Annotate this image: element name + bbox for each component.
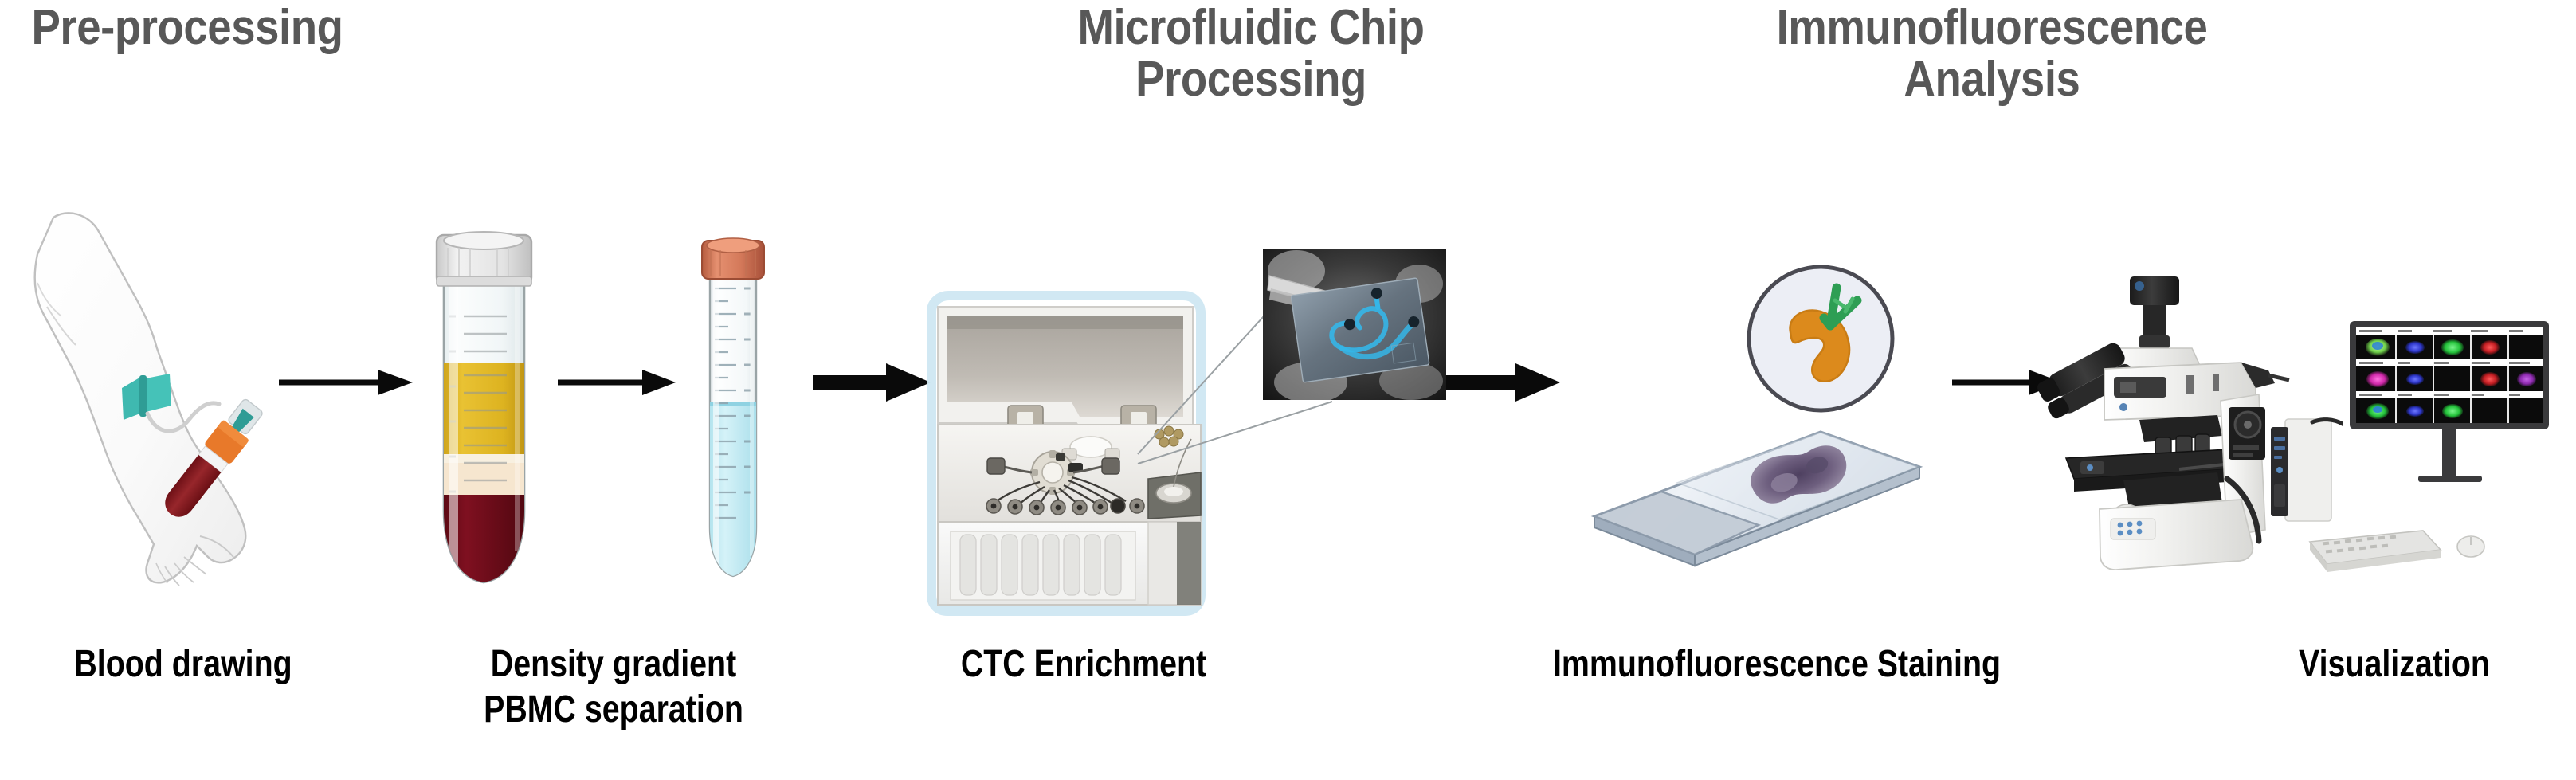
step-caption-ctc-enrichment: CTC Enrichment [914, 642, 1253, 688]
stage-heading-pre-processing: Pre-processing [22, 2, 352, 53]
antibody-binding-icon [1741, 259, 1900, 418]
stage-heading-immunofluorescence: Immunofluorescence Analysis [1739, 2, 2245, 105]
density-gradient-tube [414, 227, 554, 602]
arrow-gradient-to-ctc [558, 363, 677, 402]
step-caption-blood-drawing: Blood drawing [26, 642, 340, 688]
analysis-monitor [2339, 315, 2576, 498]
step-caption-density-gradient: Density gradient PBMC separation [430, 642, 796, 732]
computer-tower [2271, 414, 2343, 534]
keyboard [2307, 518, 2530, 590]
arrow-stage2-to-stage3 [1442, 360, 1562, 405]
arrow-stage1-to-stage2 [813, 360, 932, 405]
pbmc-suspension-tube [677, 231, 789, 598]
step-caption-if-staining: Immunofluorescence Staining [1450, 642, 2104, 688]
fluorescence-microscope [2028, 267, 2291, 586]
arm-venipuncture-illustration [20, 203, 331, 602]
microfluidic-chip-photo [1263, 249, 1446, 400]
workflow-figure: Pre-processing Microfluidic Chip Process… [0, 0, 2576, 780]
stained-microscope-slide [1582, 422, 1924, 582]
stage-heading-microfluidic-chip: Microfluidic Chip Processing [1041, 2, 1461, 105]
step-caption-visualization: Visualization [2241, 642, 2547, 688]
